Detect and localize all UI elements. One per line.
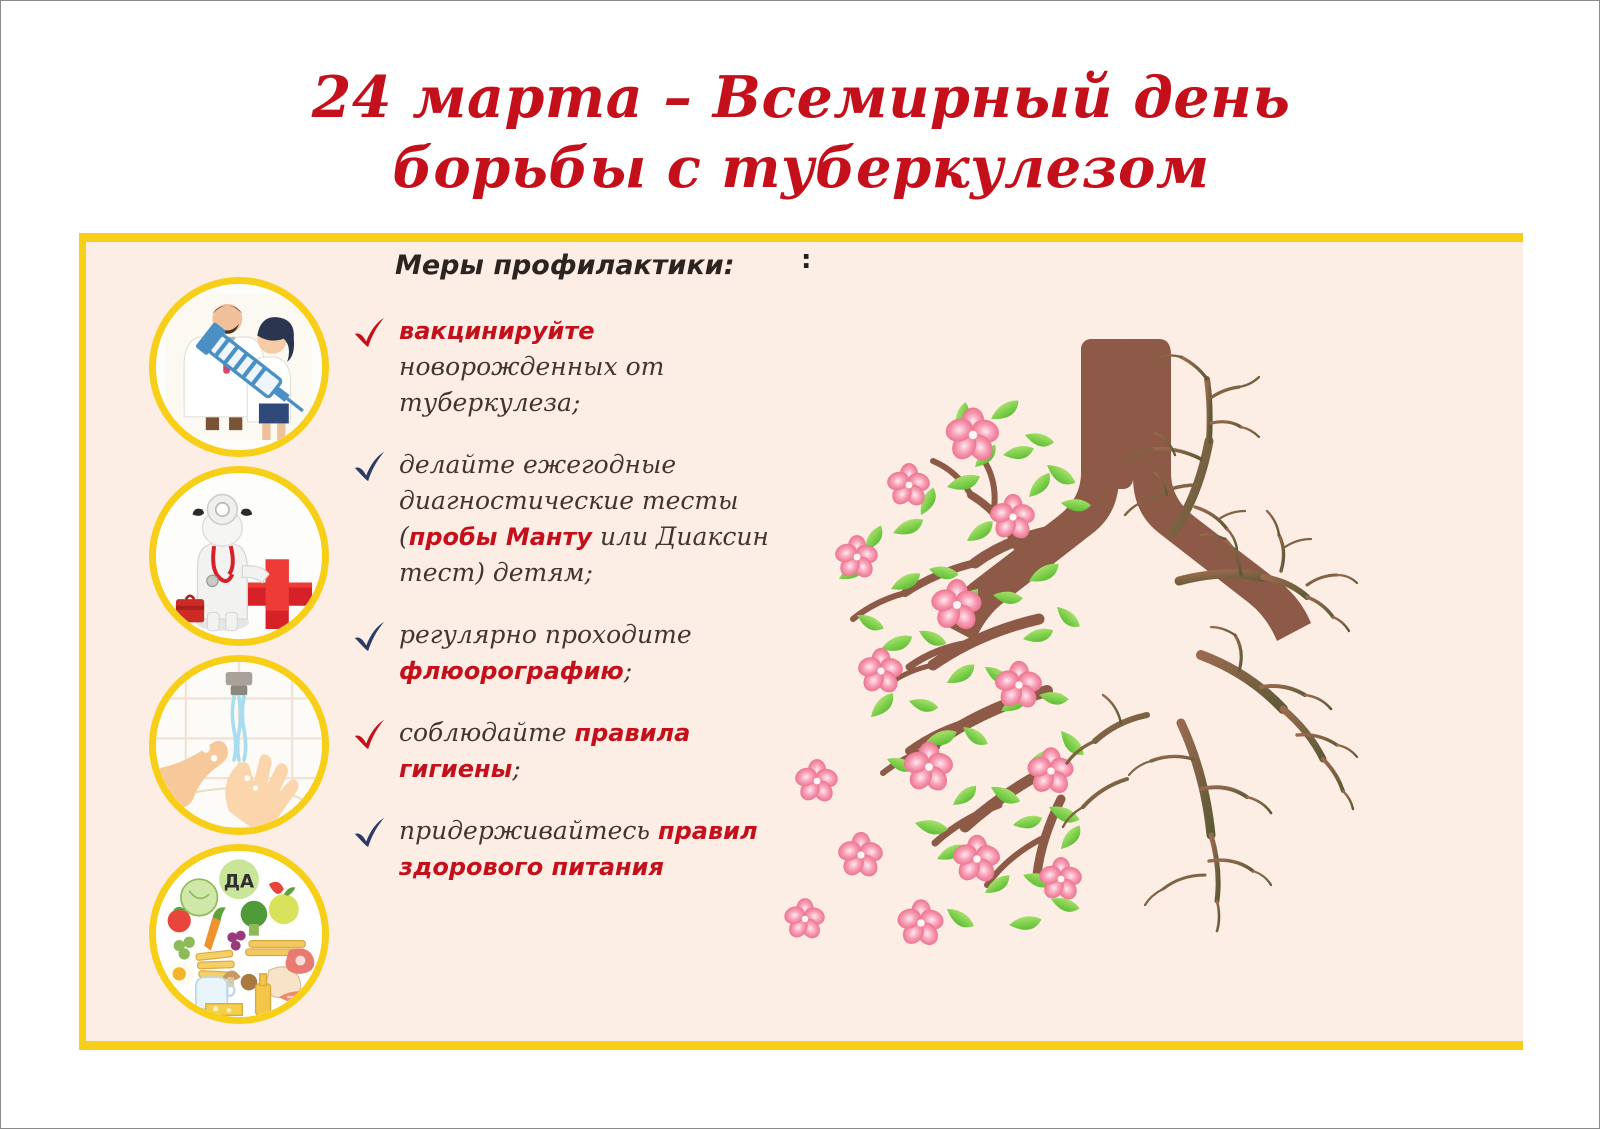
measure-bullet-text: делайте ежегодные диагностические тесты … [399, 447, 773, 591]
highlighted-term: флюорографию [399, 657, 624, 685]
panel-left-rule [79, 233, 86, 1050]
plain-text: ; [512, 754, 520, 783]
healthy-food-art: ДА [156, 851, 322, 1017]
checkmark-icon [353, 621, 387, 653]
measures-text-column: Меры профилактики: вакцинируйте новорожд… [353, 249, 773, 911]
handwashing-art [156, 662, 322, 828]
lungs-as-trees-illustration [761, 319, 1501, 979]
plain-text: придерживайтесь [399, 816, 658, 845]
title-line-1: 24 марта – Всемирный день [1, 63, 1600, 133]
handwashing-icon [149, 655, 329, 835]
icon-column: ДА [149, 277, 335, 1033]
highlighted-term: вакцинируйте [399, 317, 595, 345]
plain-text: соблюдайте [399, 718, 575, 747]
left-lung-flowering-tree [782, 397, 1092, 949]
checkmark-icon [353, 451, 387, 483]
measure-bullet-text: соблюдайте правила гигиены; [399, 715, 773, 787]
food-badge-label: ДА [224, 872, 255, 893]
plain-text: новорожденных от туберкулеза; [399, 352, 664, 417]
stray-colon-mark: : [801, 245, 811, 275]
highlighted-term: пробы Манту [409, 523, 592, 551]
plain-text: ; [624, 656, 632, 685]
checkmark-icon [353, 317, 387, 349]
checkmark-icon [353, 719, 387, 751]
measure-bullet-3: регулярно проходите флюорографию; [353, 617, 773, 689]
doctor-red-cross-icon [149, 466, 329, 646]
poster-title: 24 марта – Всемирный день борьбы с тубер… [1, 63, 1600, 203]
measures-bullet-list: вакцинируйте новорожденных от туберкулез… [353, 313, 773, 885]
doctors-with-syringe-icon [149, 277, 329, 457]
panel-top-rule [79, 233, 1523, 242]
title-line-2: борьбы с туберкулезом [1, 133, 1600, 203]
doctor-red-cross-art [156, 473, 322, 639]
measure-bullet-2: делайте ежегодные диагностические тесты … [353, 447, 773, 591]
measure-bullet-text: регулярно проходите флюорографию; [399, 617, 773, 689]
doctors-with-syringe-art [156, 284, 322, 450]
measure-bullet-text: придерживайтесь правил здорового питания [399, 813, 773, 885]
poster-page: 24 марта – Всемирный день борьбы с тубер… [0, 0, 1600, 1129]
measure-bullet-text: вакцинируйте новорожденных от туберкулез… [399, 313, 773, 421]
healthy-food-icon: ДА [149, 844, 329, 1024]
plain-text: регулярно проходите [399, 620, 692, 649]
measure-bullet-1: вакцинируйте новорожденных от туберкулез… [353, 313, 773, 421]
checkmark-icon [353, 817, 387, 849]
panel-bottom-rule [79, 1041, 1523, 1050]
measure-bullet-4: соблюдайте правила гигиены; [353, 715, 773, 787]
measure-bullet-5: придерживайтесь правил здорового питания [353, 813, 773, 885]
lungs-art [761, 319, 1501, 979]
measures-heading: Меры профилактики: [395, 249, 773, 283]
